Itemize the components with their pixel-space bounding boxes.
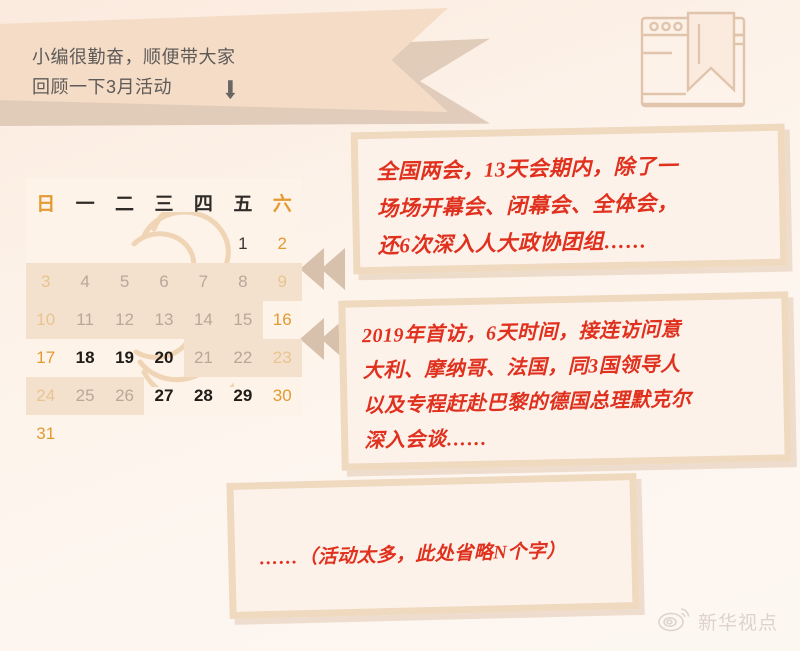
calendar-day-cell[interactable]: 22 [223,339,262,377]
calendar-day-cell[interactable]: 29 [223,377,262,415]
banner-title-text: 小编很勤奋，顺便带大家 回顾一下3月活动 [32,42,362,102]
calendar-panel: 日 一 二 三 四 五 六 12345678910111213141516171… [26,178,302,416]
calendar-empty-cell [105,415,144,453]
calendar-empty-cell [184,415,223,453]
calendar-empty-cell [105,225,144,263]
calendar-day-cell[interactable]: 30 [263,377,302,415]
calendar-day-cell[interactable]: 23 [263,339,302,377]
callout-text-2: 2019年首访，6天时间，接连访问意 大利、摩纳哥、法国，同3国领导人 以及专程… [345,298,784,459]
calendar-day-cell[interactable]: 4 [65,263,104,301]
calendar-empty-cell [144,225,183,263]
calendar-empty-cell [184,225,223,263]
calendar-day-cell[interactable]: 25 [65,377,104,415]
calendar-week-row: 10111213141516 [26,301,302,339]
poster-canvas: 小编很勤奋，顺便带大家 回顾一下3月活动 ⬇ [0,0,800,651]
calendar-day-cell[interactable]: 15 [223,301,262,339]
calendar-day-cell[interactable]: 21 [184,339,223,377]
calendar-day-cell[interactable]: 5 [105,263,144,301]
calendar-day-cell[interactable]: 17 [26,339,65,377]
callout-box-1: 全国两会，13天会期内，除了一 场场开幕会、闭幕会、全体会， 还6次深入人大政协… [351,124,788,275]
calendar-day-cell[interactable]: 28 [184,377,223,415]
calendar-empty-cell [26,225,65,263]
calendar-day-cell[interactable]: 18 [65,339,104,377]
calendar-day-cell[interactable]: 20 [144,339,183,377]
browser-bookmark-icon [630,8,760,116]
callout-text-1: 全国两会，13天会期内，除了一 场场开幕会、闭幕会、全体会， 还6次深入人大政协… [358,131,780,265]
weekday-header-mon: 一 [65,178,104,225]
calendar-day-cell[interactable]: 10 [26,301,65,339]
pointer-arrow-to-callout-1 [300,248,346,290]
calendar-day-cell[interactable]: 3 [26,263,65,301]
calendar-empty-cell [65,415,104,453]
weekday-header-sun: 日 [26,178,65,225]
calendar-day-cell[interactable]: 31 [26,415,65,453]
weekday-header-fri: 五 [223,178,262,225]
down-arrow-icon: ⬇ [222,75,239,106]
weekday-header-tue: 二 [105,178,144,225]
calendar-day-cell[interactable]: 2 [263,225,302,263]
calendar-header-row: 日 一 二 三 四 五 六 [26,178,302,225]
calendar-day-cell[interactable]: 1 [223,225,262,263]
calendar-empty-cell [263,415,302,453]
calendar-day-cell[interactable]: 8 [223,263,262,301]
calendar-day-cell[interactable]: 19 [105,339,144,377]
calendar-week-row: 24252627282930 [26,377,302,415]
calendar-day-cell[interactable]: 27 [144,377,183,415]
calendar-table: 日 一 二 三 四 五 六 12345678910111213141516171… [26,178,302,453]
calendar-day-cell[interactable]: 26 [105,377,144,415]
weekday-header-sat: 六 [263,178,302,225]
calendar-empty-cell [144,415,183,453]
calendar-day-cell[interactable]: 9 [263,263,302,301]
calendar-empty-cell [223,415,262,453]
header-banner: 小编很勤奋，顺便带大家 回顾一下3月活动 ⬇ [0,8,510,128]
weibo-logo-icon [657,606,691,637]
calendar-day-cell[interactable]: 6 [144,263,183,301]
watermark-label: 新华视点 [698,608,778,635]
callout-text-3: ……（活动太多，此处省略N个字） [234,480,632,575]
calendar-day-cell[interactable]: 11 [65,301,104,339]
calendar-day-cell[interactable]: 12 [105,301,144,339]
calendar-week-row: 17181920212223 [26,339,302,377]
calendar-body: 1234567891011121314151617181920212223242… [26,225,302,453]
calendar-day-cell[interactable]: 24 [26,377,65,415]
calendar-week-row: 3456789 [26,263,302,301]
calendar-empty-cell [65,225,104,263]
calendar-week-row: 12 [26,225,302,263]
source-watermark: 新华视点 [657,606,778,637]
callout-box-2: 2019年首访，6天时间，接连访问意 大利、摩纳哥、法国，同3国领导人 以及专程… [338,291,791,470]
weekday-header-wed: 三 [144,178,183,225]
calendar-week-row: 31 [26,415,302,453]
calendar-day-cell[interactable]: 14 [184,301,223,339]
weekday-header-thu: 四 [184,178,223,225]
calendar-day-cell[interactable]: 7 [184,263,223,301]
calendar-day-cell[interactable]: 13 [144,301,183,339]
calendar-day-cell[interactable]: 16 [263,301,302,339]
callout-box-3: ……（活动太多，此处省略N个字） [226,473,639,619]
